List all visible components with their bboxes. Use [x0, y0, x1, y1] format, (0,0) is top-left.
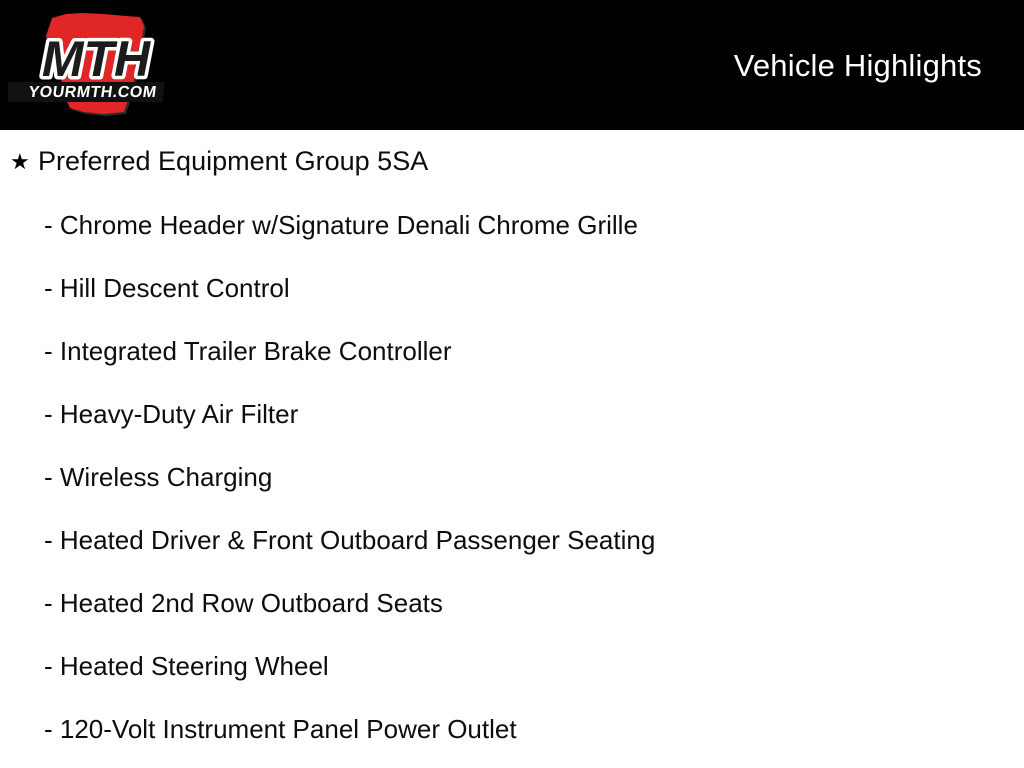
list-item: ★ Preferred Equipment Group 5SA — [0, 130, 1024, 193]
list-item-label: - Heated 2nd Row Outboard Seats — [44, 590, 443, 616]
list-item: - 120-Volt Instrument Panel Power Outlet — [0, 697, 1024, 760]
page-title: Vehicle Highlights — [734, 50, 1024, 81]
svg-text:YOURMTH.COM: YOURMTH.COM — [27, 83, 158, 101]
page-header: MTH MTH YOURMTH.COM Vehicle Highlights — [0, 0, 1024, 130]
list-item: - Wireless Charging — [0, 445, 1024, 508]
mth-dealer-logo[interactable]: MTH MTH YOURMTH.COM — [8, 4, 188, 126]
list-item: - Hill Descent Control — [0, 256, 1024, 319]
list-item-label: - 120-Volt Instrument Panel Power Outlet — [44, 716, 517, 742]
star-icon: ★ — [10, 151, 38, 173]
list-item: - Heated Steering Wheel — [0, 634, 1024, 697]
list-item: - Heavy-Duty Air Filter — [0, 382, 1024, 445]
list-item-label: Preferred Equipment Group 5SA — [38, 148, 428, 175]
list-item-label: - Integrated Trailer Brake Controller — [44, 338, 452, 364]
list-item: - Heated 2nd Row Outboard Seats — [0, 571, 1024, 634]
svg-text:MTH: MTH — [42, 31, 151, 87]
website-banner: YOURMTH.COM — [8, 82, 165, 102]
list-item-label: - Chrome Header w/Signature Denali Chrom… — [44, 212, 638, 238]
vehicle-highlights-list: ★ Preferred Equipment Group 5SA - Chrome… — [0, 130, 1024, 768]
list-item-label: - Heated Steering Wheel — [44, 653, 329, 679]
list-item-label: - Hill Descent Control — [44, 275, 290, 301]
list-item: - Integrated Trailer Brake Controller — [0, 319, 1024, 382]
list-item: - Chrome Header w/Signature Denali Chrom… — [0, 193, 1024, 256]
vehicle-highlights-page: MTH MTH YOURMTH.COM Vehicle Highlights ★… — [0, 0, 1024, 768]
list-item: - Heated Driver & Front Outboard Passeng… — [0, 508, 1024, 571]
list-item-label: - Wireless Charging — [44, 464, 272, 490]
list-item-label: - Heated Driver & Front Outboard Passeng… — [44, 527, 655, 553]
mth-wordmark: MTH MTH — [42, 31, 151, 87]
list-item-label: - Heavy-Duty Air Filter — [44, 401, 298, 427]
